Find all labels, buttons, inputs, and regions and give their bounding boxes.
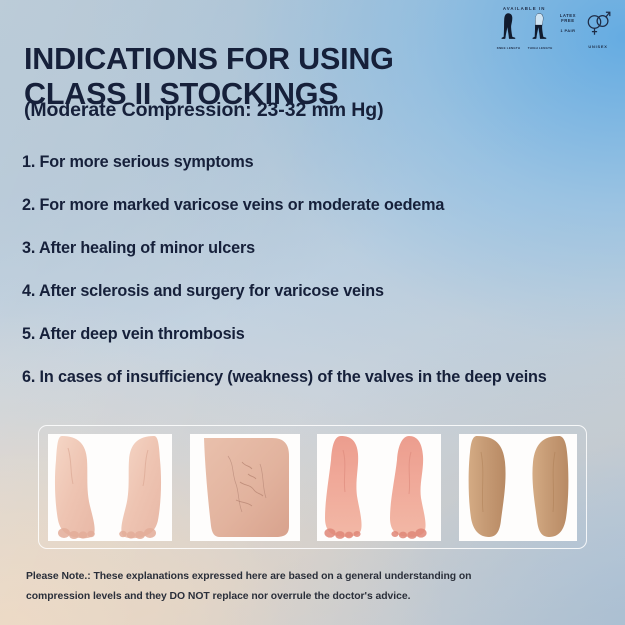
tanned-calves-photo <box>459 434 577 541</box>
swollen-feet-photo <box>48 434 172 541</box>
available-in-badge: AVAILABLE IN KNEE LENGTH <box>496 6 553 50</box>
poster-canvas: AVAILABLE IN KNEE LENGTH <box>0 0 625 625</box>
photo-strip <box>38 425 587 549</box>
list-item: 4. After sclerosis and surgery for varic… <box>22 282 617 301</box>
leg-figure-group: KNEE LENGTH THIGH LENGTH <box>496 12 553 50</box>
figure-knee-length-label: KNEE LENGTH <box>496 46 519 50</box>
disclaimer-line-2: compression levels and they DO NOT repla… <box>26 587 605 607</box>
leg-thigh-length-icon <box>532 12 547 45</box>
pair-count-label: 1 PAIR <box>560 28 575 33</box>
varicose-thigh-photo <box>190 434 300 541</box>
unisex-badge: UNISEX <box>583 9 613 49</box>
product-badge-cluster: AVAILABLE IN KNEE LENGTH <box>496 6 613 50</box>
list-item: 1. For more serious symptoms <box>22 153 617 172</box>
leg-knee-length-icon <box>501 12 516 45</box>
disclaimer-note: Please Note.: These explanations express… <box>26 567 605 608</box>
available-in-caption: AVAILABLE IN <box>503 6 546 11</box>
unisex-symbol-icon <box>583 9 613 43</box>
list-item: 3. After healing of minor ulcers <box>22 239 617 258</box>
latex-free-line2: FREE <box>561 18 574 23</box>
figure-thigh-length: THIGH LENGTH <box>527 12 553 50</box>
disclaimer-line-1: Please Note.: These explanations express… <box>26 567 605 587</box>
unisex-caption: UNISEX <box>588 44 607 49</box>
list-item: 6. In cases of insufficiency (weakness) … <box>22 368 617 387</box>
red-swollen-ankles-photo <box>317 434 441 541</box>
figure-thigh-length-label: THIGH LENGTH <box>527 46 552 50</box>
indications-list: 1. For more serious symptoms 2. For more… <box>22 153 617 387</box>
poster-title-line-1: INDICATIONS FOR USING <box>24 42 494 76</box>
figure-knee-length: KNEE LENGTH <box>496 12 521 50</box>
list-item: 5. After deep vein thrombosis <box>22 325 617 344</box>
list-item: 2. For more marked varicose veins or mod… <box>22 196 617 215</box>
poster-subtitle: (Moderate Compression: 23-32 mm Hg) <box>24 99 384 122</box>
latex-free-badge: LATEX FREE 1 PAIR <box>560 13 576 33</box>
